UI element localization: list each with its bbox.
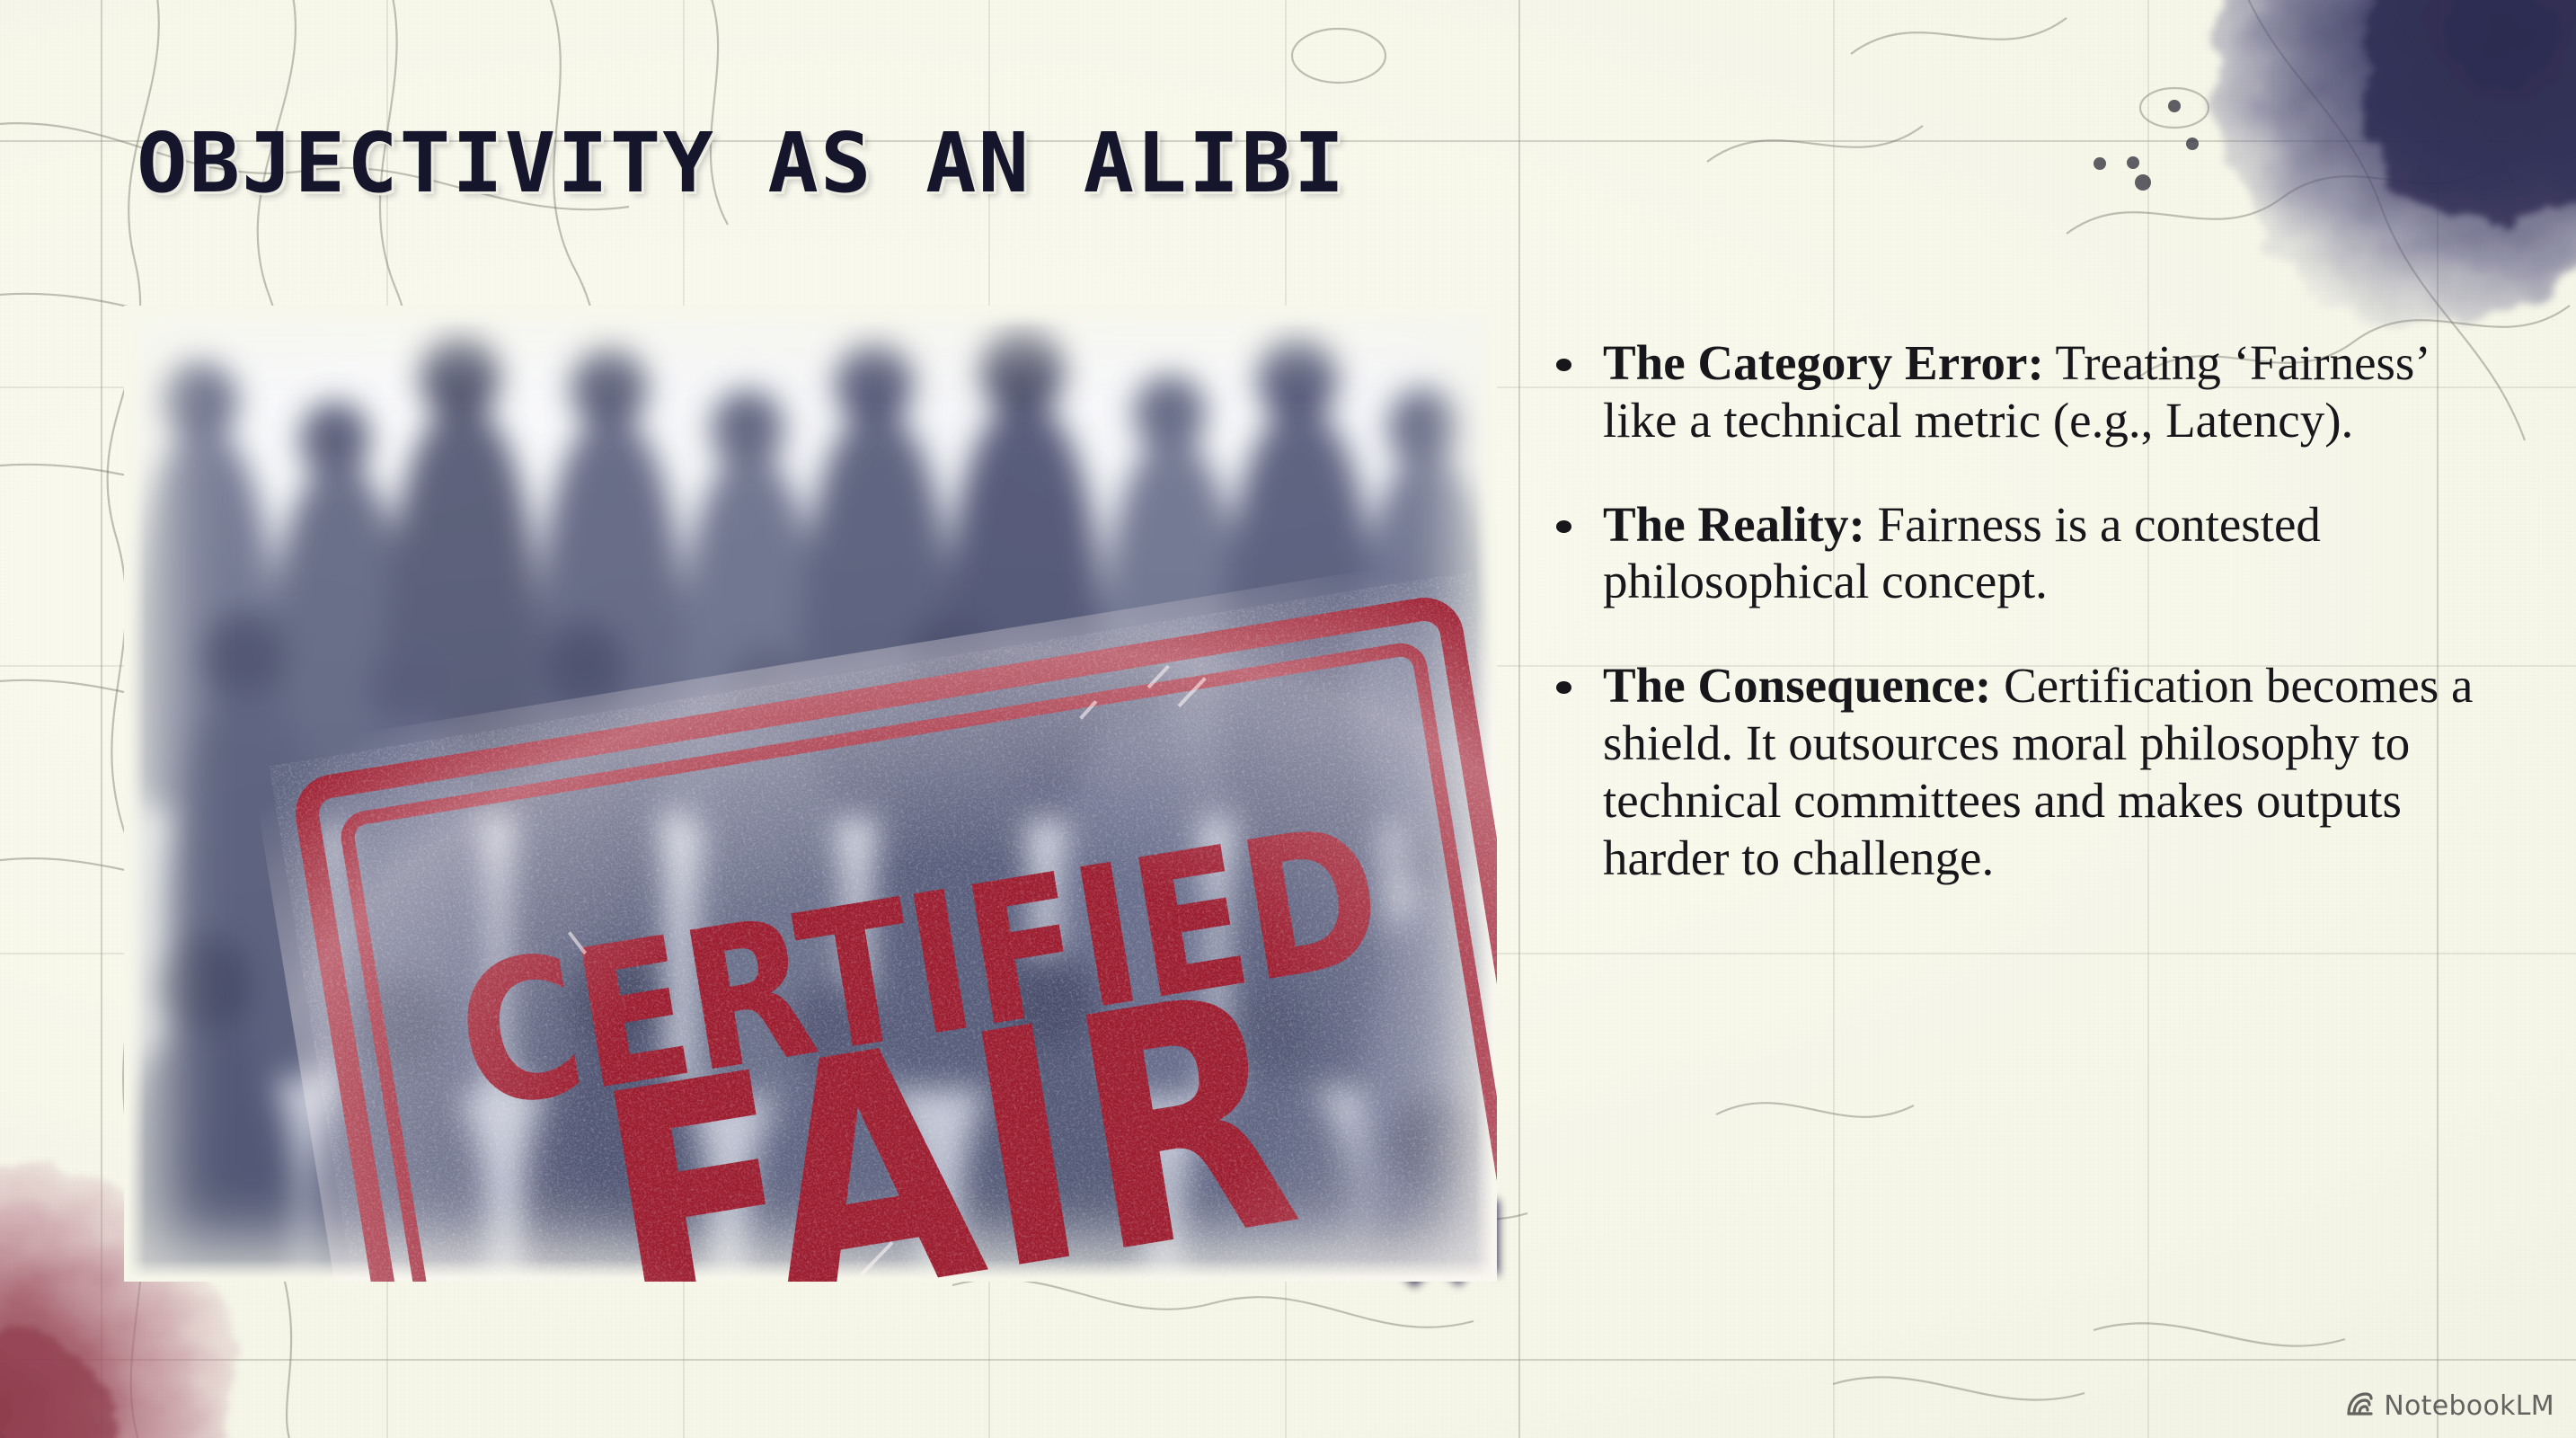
bullet-list: The Category Error: Treating ‘Fairness’ … [1527, 334, 2480, 886]
notebooklm-spiral-icon [2345, 1390, 2374, 1422]
bullet-lead: The Category Error: [1603, 335, 2044, 390]
list-item: The Reality: Fairness is a contested phi… [1527, 496, 2480, 611]
page-title: OBJECTIVITY AS AN ALIBI [137, 115, 1346, 211]
bullet-lead: The Consequence: [1603, 658, 1991, 713]
bullet-dot-icon [1556, 520, 1571, 533]
certified-fair-image-panel: CERTIFIED FAIR [124, 306, 1497, 1282]
bullet-lead: The Reality: [1603, 497, 1865, 552]
list-item: The Category Error: Treating ‘Fairness’ … [1527, 334, 2480, 449]
slide-canvas: OBJECTIVITY AS AN ALIBI [0, 0, 2576, 1438]
notebooklm-label: NotebookLM [2384, 1390, 2554, 1422]
stamp-line-fair: FAIR [588, 974, 1314, 1282]
bullet-dot-icon [1556, 359, 1571, 371]
bullet-dot-icon [1556, 681, 1571, 694]
list-item: The Consequence: Certification becomes a… [1527, 657, 2480, 886]
notebooklm-watermark: NotebookLM [2345, 1390, 2554, 1422]
